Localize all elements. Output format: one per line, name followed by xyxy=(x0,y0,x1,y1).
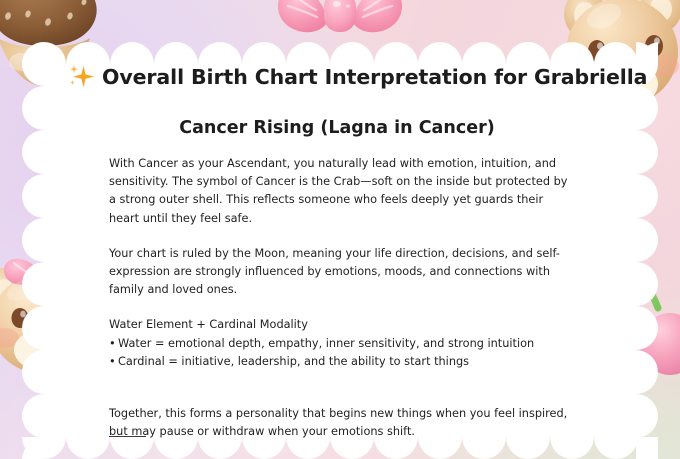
list-item: Water = emotional depth, empathy, inner … xyxy=(109,335,571,353)
list-item: Cardinal = initiative, leadership, and t… xyxy=(109,353,571,371)
paragraph-1: With Cancer as your Ascendant, you natur… xyxy=(109,155,571,228)
bullet-list: Water = emotional depth, empathy, inner … xyxy=(109,335,571,371)
sparkles-icon xyxy=(66,62,96,92)
document-page: Overall Birth Chart Interpretation for G… xyxy=(0,0,680,459)
horizontal-rule xyxy=(109,436,146,437)
section-heading: Water Element + Cardinal Modality xyxy=(109,316,571,334)
spacer xyxy=(109,388,571,405)
section-subtitle: Cancer Rising (Lagna in Cancer) xyxy=(0,118,680,138)
pink-bow-icon xyxy=(276,0,404,46)
page-title: Overall Birth Chart Interpretation for G… xyxy=(102,65,647,89)
closing-paragraph: Together, this forms a personality that … xyxy=(109,405,571,441)
paragraph-2: Your chart is ruled by the Moon, meaning… xyxy=(109,245,571,300)
page-title-row: Overall Birth Chart Interpretation for G… xyxy=(66,62,647,92)
document-body: With Cancer as your Ascendant, you natur… xyxy=(109,155,571,458)
